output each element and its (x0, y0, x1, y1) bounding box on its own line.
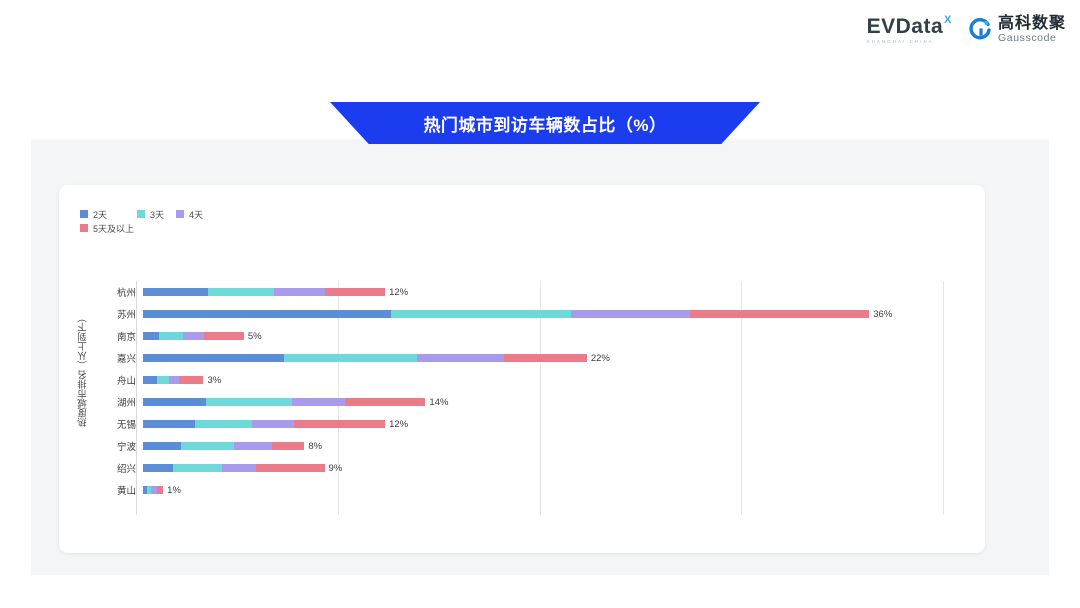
evdata-logo: EVData X SHANGHAI CHINA (867, 16, 952, 44)
logo-group: EVData X SHANGHAI CHINA 高科数聚 Gausscode (867, 16, 1066, 44)
stacked-bar[interactable] (143, 398, 425, 406)
gausscode-logo: 高科数聚 Gausscode (968, 16, 1066, 44)
bar-wrapper: 3% (143, 369, 957, 391)
bar-segment-2天[interactable] (143, 464, 173, 472)
chart-title-banner: 热门城市到访车辆数占比（%） (330, 102, 760, 144)
stacked-bar[interactable] (143, 376, 203, 384)
bar-wrapper: 22% (143, 347, 957, 369)
bar-wrapper: 8% (143, 435, 957, 457)
chart-row: 湖州14% (97, 391, 957, 413)
gausscode-text: 高科数聚 Gausscode (998, 16, 1066, 44)
stacked-bar[interactable] (143, 288, 385, 296)
y-axis-label-南京: 南京 (97, 329, 143, 343)
chart-row: 嘉兴22% (97, 347, 957, 369)
bar-segment-3天[interactable] (181, 442, 233, 450)
y-axis-label-湖州: 湖州 (97, 395, 143, 409)
bar-value-label: 9% (329, 463, 343, 474)
bar-segment-5天及以上[interactable] (204, 332, 244, 340)
stacked-bar[interactable] (143, 486, 163, 494)
chart-row: 宁波8% (97, 435, 957, 457)
bar-segment-3天[interactable] (157, 376, 169, 384)
stacked-bar[interactable] (143, 310, 869, 318)
bar-segment-2天[interactable] (143, 420, 195, 428)
chart-row: 杭州12% (97, 281, 957, 303)
bar-segment-3天[interactable] (391, 310, 571, 318)
bar-segment-2天[interactable] (143, 332, 159, 340)
bar-value-label: 22% (591, 353, 610, 364)
bar-segment-2天[interactable] (143, 288, 208, 296)
bar-value-label: 12% (389, 419, 408, 430)
chart-row: 黄山1% (97, 479, 957, 501)
bar-wrapper: 12% (143, 281, 957, 303)
evdata-wordmark: EVData X (867, 16, 952, 37)
bar-value-label: 5% (248, 331, 262, 342)
bar-value-label: 1% (167, 485, 181, 496)
y-axis-label-嘉兴: 嘉兴 (97, 351, 143, 365)
chart-row: 舟山3% (97, 369, 957, 391)
bar-segment-3天[interactable] (195, 420, 251, 428)
chart-row: 无锡12% (97, 413, 957, 435)
bar-segment-3天[interactable] (206, 398, 293, 406)
bar-segment-3天[interactable] (173, 464, 221, 472)
y-axis-label-黄山: 黄山 (97, 483, 143, 497)
chart-row: 南京5% (97, 325, 957, 347)
bar-segment-3天[interactable] (208, 288, 275, 296)
bar-segment-4天[interactable] (571, 310, 690, 318)
bar-segment-4天[interactable] (169, 376, 179, 384)
stacked-bar[interactable] (143, 420, 385, 428)
gausscode-en-text: Gausscode (998, 33, 1066, 44)
stacked-bar[interactable] (143, 332, 244, 340)
bar-segment-4天[interactable] (292, 398, 344, 406)
bar-segment-4天[interactable] (274, 288, 324, 296)
bar-segment-4天[interactable] (417, 354, 504, 362)
evdata-subtitle: SHANGHAI CHINA (867, 40, 934, 44)
bar-segment-2天[interactable] (143, 354, 284, 362)
bar-wrapper: 9% (143, 457, 957, 479)
y-axis-label-宁波: 宁波 (97, 439, 143, 453)
bar-segment-2天[interactable] (143, 376, 157, 384)
chart-row: 苏州36% (97, 303, 957, 325)
bar-segment-2天[interactable] (143, 310, 391, 318)
bar-wrapper: 5% (143, 325, 957, 347)
bar-segment-4天[interactable] (183, 332, 203, 340)
stacked-bar[interactable] (143, 354, 587, 362)
bar-segment-5天及以上[interactable] (690, 310, 870, 318)
y-axis-label-苏州: 苏州 (97, 307, 143, 321)
stacked-bar[interactable] (143, 464, 325, 472)
bar-segment-4天[interactable] (234, 442, 272, 450)
bar-segment-5天及以上[interactable] (157, 486, 163, 494)
bar-segment-5天及以上[interactable] (325, 288, 386, 296)
bar-segment-3天[interactable] (159, 332, 183, 340)
chart-bar-rows: 杭州12%苏州36%南京5%嘉兴22%舟山3%湖州14%无锡12%宁波8%绍兴9… (97, 281, 957, 501)
bar-segment-5天及以上[interactable] (294, 420, 385, 428)
y-axis-label-无锡: 无锡 (97, 417, 143, 431)
bar-segment-5天及以上[interactable] (504, 354, 587, 362)
bar-value-label: 36% (873, 309, 892, 320)
chart-row: 绍兴9% (97, 457, 957, 479)
bar-wrapper: 36% (143, 303, 957, 325)
bar-value-label: 8% (308, 441, 322, 452)
bar-value-label: 3% (207, 375, 221, 386)
gausscode-cn-text: 高科数聚 (998, 16, 1066, 33)
bar-wrapper: 14% (143, 391, 957, 413)
y-axis-title: 热度城市排名（从上到下） (77, 313, 91, 427)
bar-segment-4天[interactable] (222, 464, 256, 472)
evdata-main-text: EVData (867, 16, 944, 37)
bar-segment-5天及以上[interactable] (256, 464, 325, 472)
y-axis-label-舟山: 舟山 (97, 373, 143, 387)
header-logo-bar: EVData X SHANGHAI CHINA 高科数聚 Gausscode (0, 0, 1080, 60)
chart-plot-area: 热度城市排名（从上到下） 杭州12%苏州36%南京5%嘉兴22%舟山3%湖州14… (59, 185, 985, 553)
bar-wrapper: 1% (143, 479, 957, 501)
evdata-x-icon: X (944, 15, 952, 26)
bar-value-label: 12% (389, 287, 408, 298)
bar-segment-5天及以上[interactable] (272, 442, 304, 450)
y-axis-label-绍兴: 绍兴 (97, 461, 143, 475)
bar-segment-2天[interactable] (143, 398, 206, 406)
bar-wrapper: 12% (143, 413, 957, 435)
bar-segment-3天[interactable] (284, 354, 417, 362)
gausscode-mark-icon (968, 18, 992, 42)
bar-segment-5天及以上[interactable] (345, 398, 426, 406)
bar-value-label: 14% (429, 397, 448, 408)
bar-segment-2天[interactable] (143, 442, 181, 450)
stacked-bar[interactable] (143, 442, 304, 450)
y-axis-label-杭州: 杭州 (97, 285, 143, 299)
bar-segment-4天[interactable] (252, 420, 294, 428)
chart-card: 2天 3天 4天 5天及以上 热度城市排名（从上到下） 杭州12%苏州36%南京… (59, 185, 985, 553)
bar-segment-5天及以上[interactable] (179, 376, 203, 384)
